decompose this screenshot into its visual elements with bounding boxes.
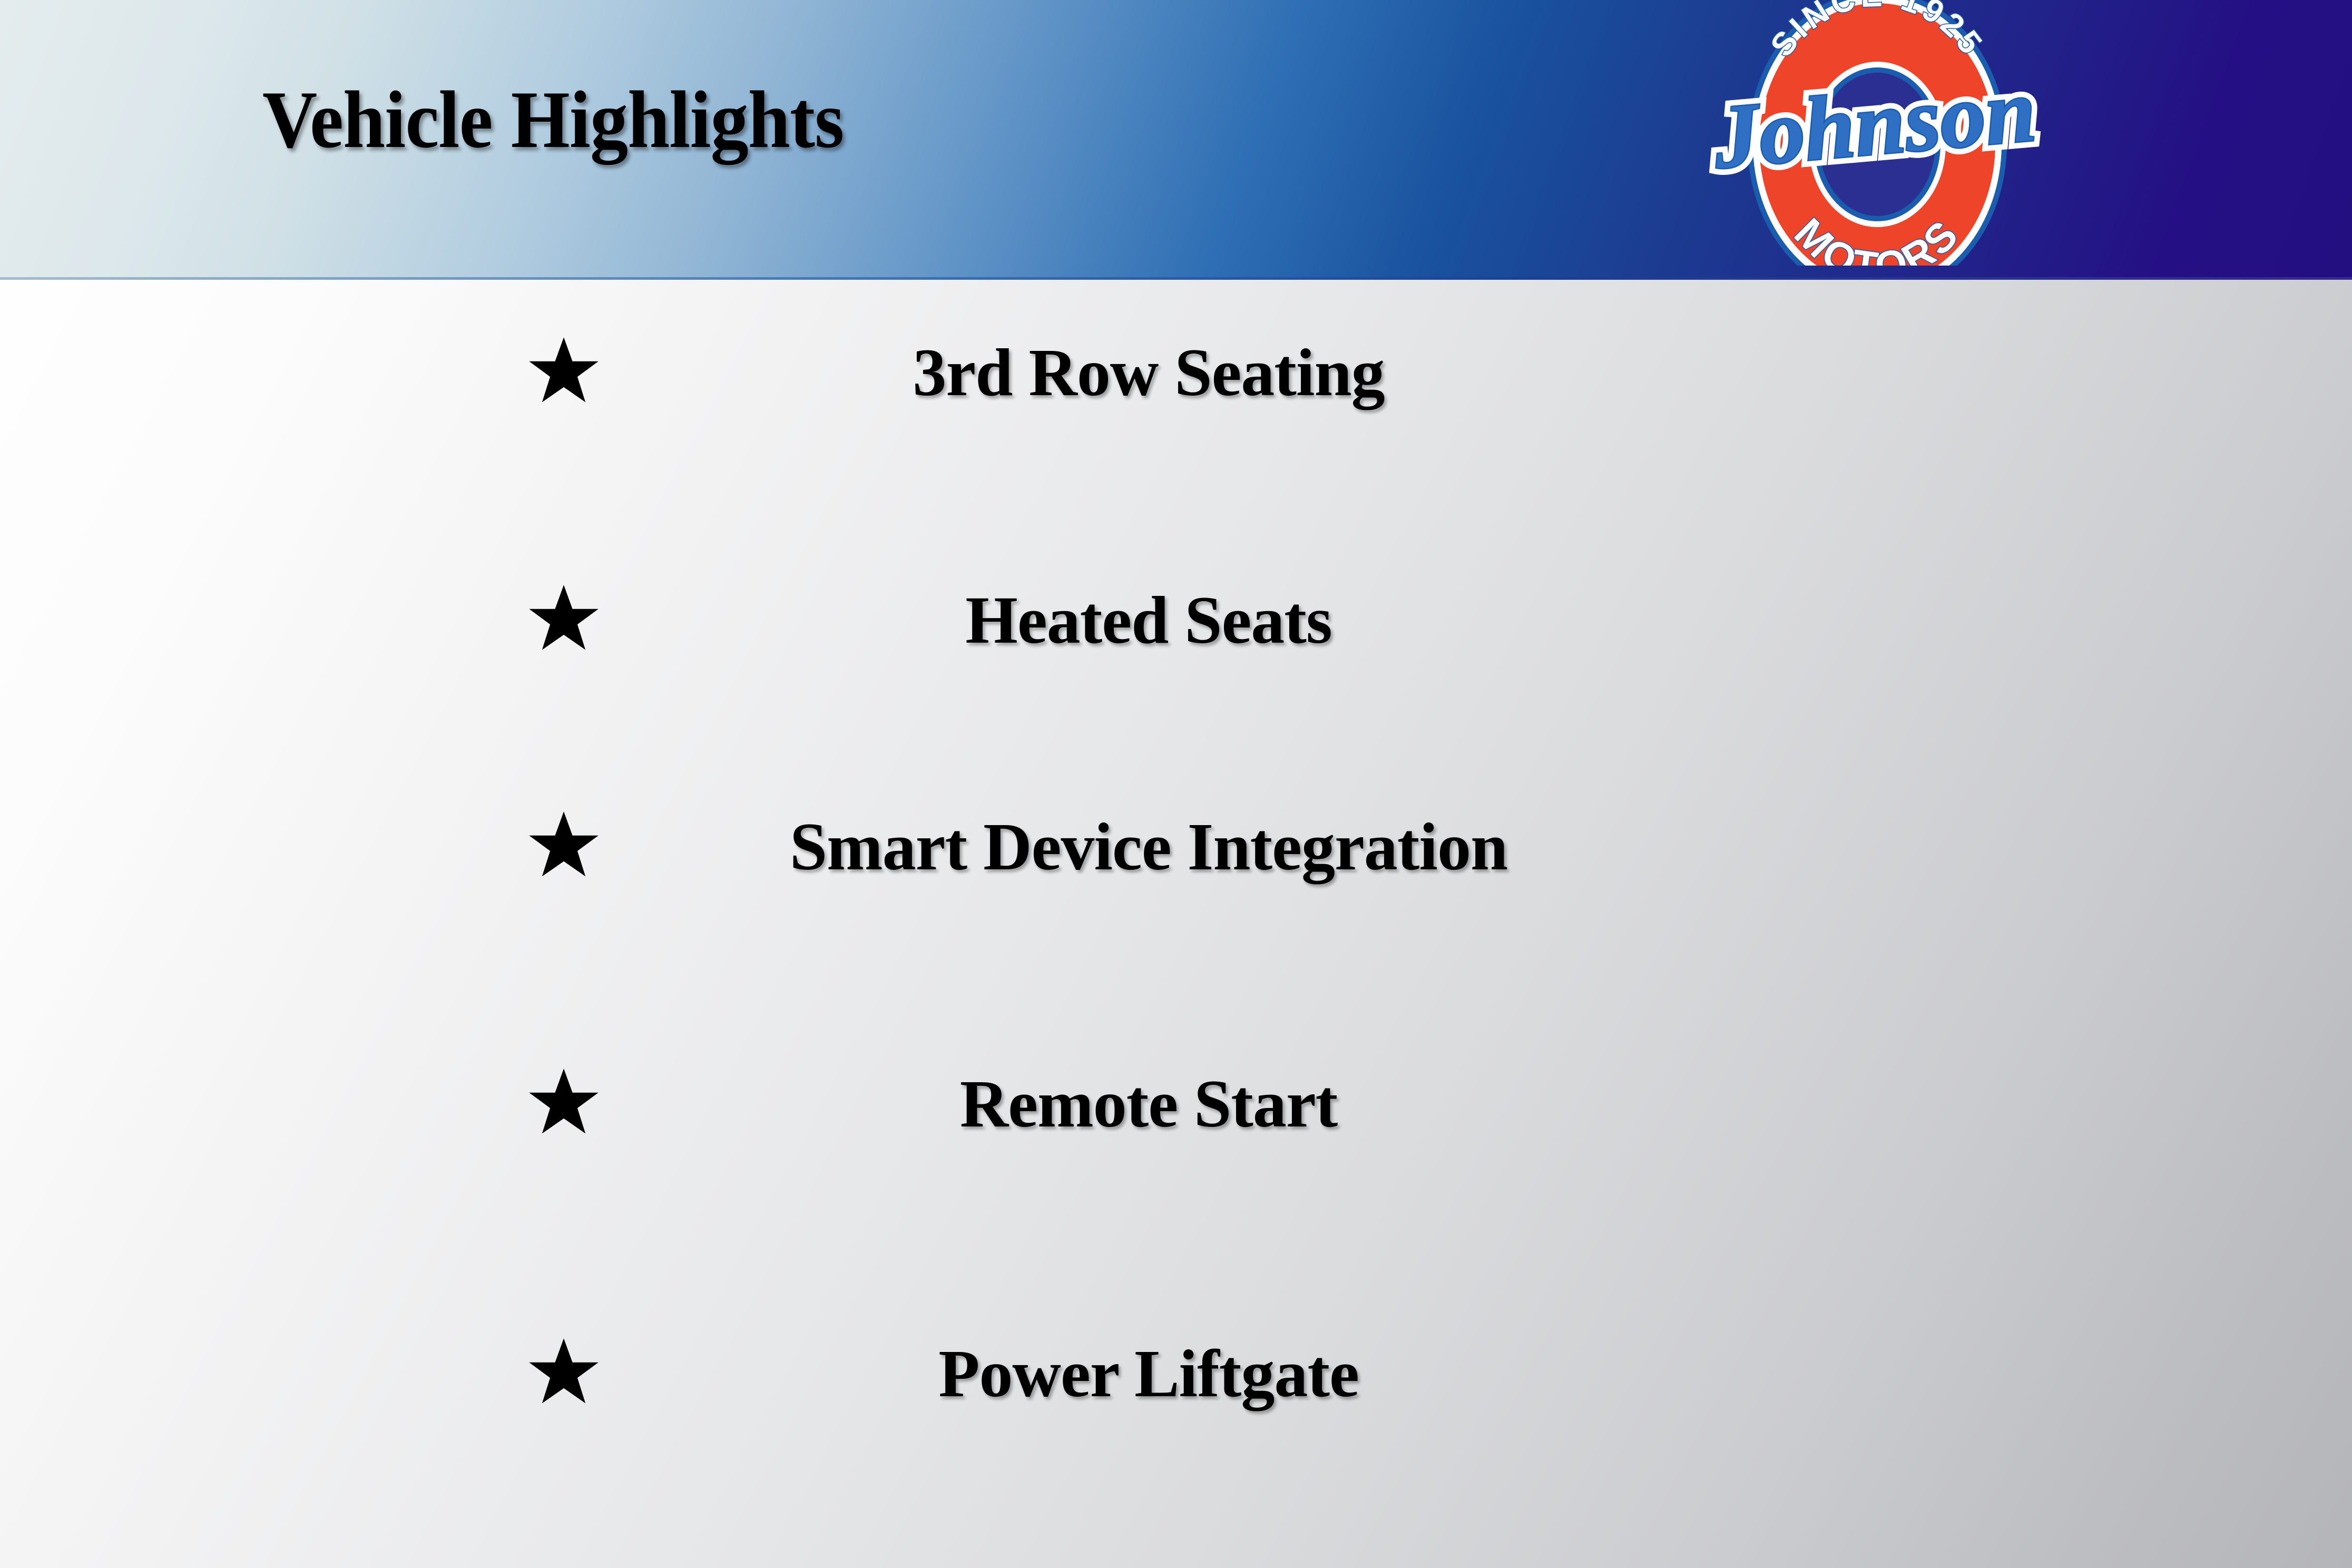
- star-icon: [527, 580, 601, 659]
- star-icon: [527, 807, 601, 886]
- list-item: Remote Start: [0, 1064, 2352, 1148]
- slide-canvas: Vehicle Highlights: [0, 0, 2352, 1568]
- star-icon: [527, 1334, 601, 1413]
- star-icon: [527, 332, 601, 411]
- list-item-label: 3rd Row Seating: [648, 334, 1649, 411]
- list-item: Smart Device Integration: [0, 807, 2352, 891]
- page-title: Vehicle Highlights: [262, 79, 844, 161]
- list-item-label: Remote Start: [648, 1065, 1649, 1143]
- list-item-label: Heated Seats: [648, 581, 1649, 659]
- list-item: 3rd Row Seating: [0, 332, 2352, 417]
- star-icon: [527, 1064, 601, 1143]
- highlights-list: 3rd Row Seating Heated Seats Smart Devic…: [0, 280, 2352, 1568]
- list-item-label: Power Liftgate: [648, 1335, 1649, 1413]
- johnson-motors-logo: SINCE 1925 MOTORS Johnson Johnson: [1696, 0, 2059, 279]
- list-item: Power Liftgate: [0, 1334, 2352, 1418]
- list-item: Heated Seats: [0, 580, 2352, 664]
- header-band: Vehicle Highlights: [0, 0, 2352, 280]
- list-item-label: Smart Device Integration: [648, 808, 1649, 886]
